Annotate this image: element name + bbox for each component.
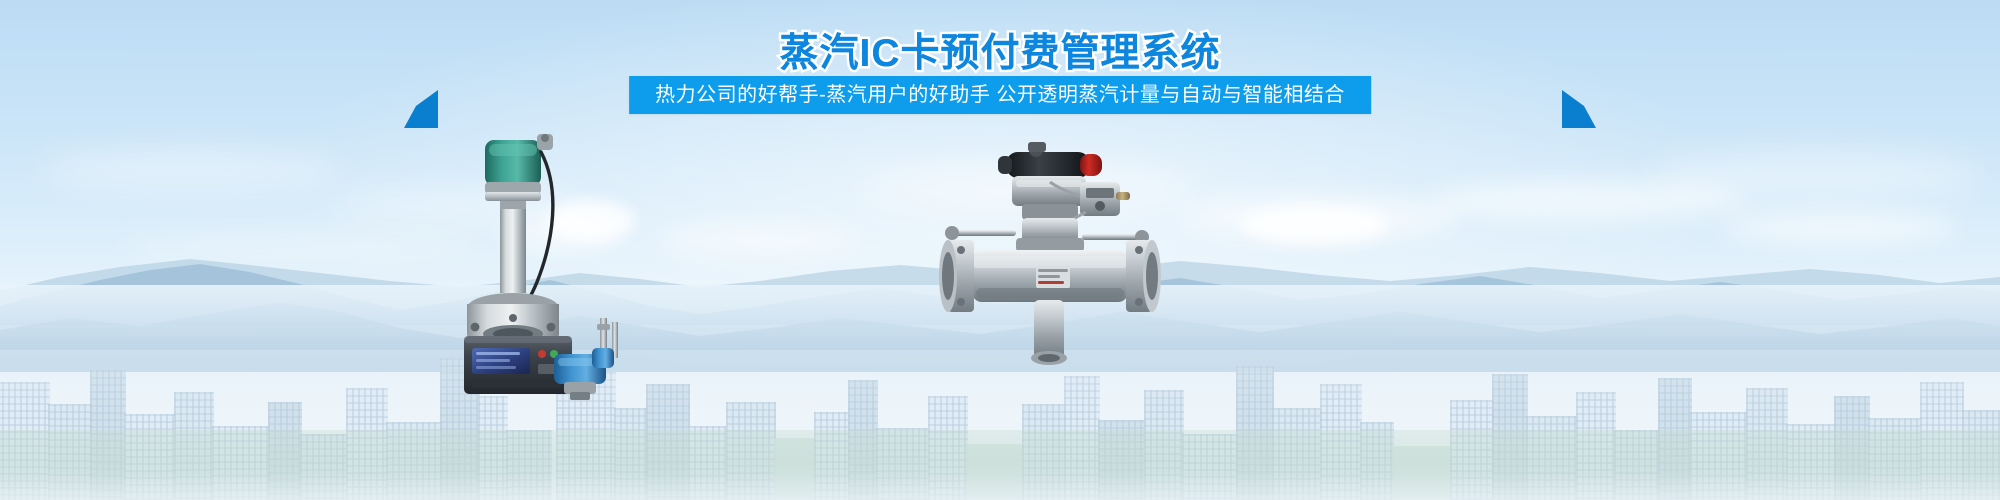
cloud <box>1650 150 1980 200</box>
cloud <box>40 150 340 190</box>
page-title: 蒸汽IC卡预付费管理系统 <box>0 22 2000 78</box>
foreground-greenery <box>0 430 2000 500</box>
ribbon-tail-right-icon <box>1562 90 1596 128</box>
subtitle-text: 热力公司的好帮手-蒸汽用户的好助手 公开透明蒸汽计量与自动与智能相结合 <box>629 76 1371 114</box>
subtitle-ribbon: 热力公司的好帮手-蒸汽用户的好助手 公开透明蒸汽计量与自动与智能相结合 <box>0 76 2000 116</box>
banner-stage: 蒸汽IC卡预付费管理系统 蒸汽IC卡预付费管理系统 热力公司的好帮手-蒸汽用户的… <box>0 0 2000 500</box>
ribbon-tail-left-icon <box>404 90 438 128</box>
pneumatic-control-valve-assembly <box>930 138 1170 388</box>
pressure-transmitter <box>548 318 634 400</box>
